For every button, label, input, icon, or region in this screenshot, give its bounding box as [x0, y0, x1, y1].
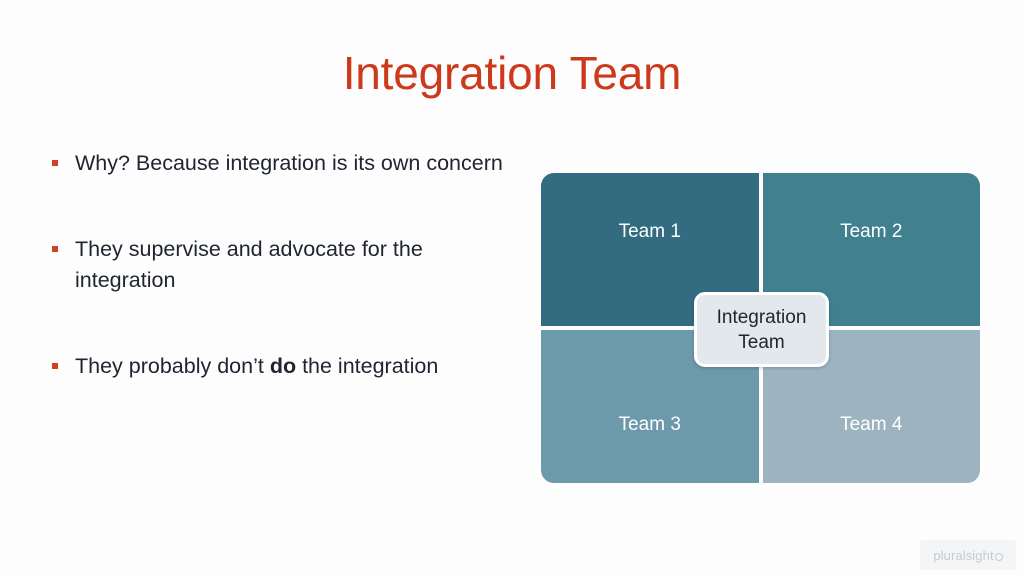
quadrant-label: Team 1 — [619, 221, 681, 243]
square-bullet-icon — [52, 246, 58, 252]
integration-team-callout-text: IntegrationTeam — [717, 305, 807, 355]
page-title: Integration Team — [0, 48, 1024, 99]
bullet-text: They supervise and advocate for the inte… — [75, 234, 522, 296]
integration-team-callout[interactable]: IntegrationTeam — [694, 292, 829, 367]
bullet-text-before: They probably don’t — [75, 354, 270, 378]
bullet-text-emphasis: do — [270, 354, 296, 378]
quadrant-label: Team 3 — [619, 414, 681, 436]
bullet-text: Why? Because integration is its own conc… — [75, 148, 503, 179]
callout-line-1: Integration — [717, 307, 807, 328]
callout-line-2: Team — [738, 332, 784, 353]
bullet-list: Why? Because integration is its own conc… — [52, 148, 522, 382]
watermark-label: pluralsight — [933, 548, 993, 563]
circle-mark-icon — [995, 553, 1003, 561]
quadrant-label: Team 4 — [840, 414, 902, 436]
list-item: They probably don’t do the integration — [52, 351, 522, 382]
square-bullet-icon — [52, 363, 58, 369]
slide-canvas: Integration Team Why? Because integratio… — [0, 0, 1024, 576]
four-team-quadrant-diagram: Team 1 Team 2 Team 3 Team 4 IntegrationT… — [541, 173, 980, 483]
bullet-text-after: the integration — [296, 354, 438, 378]
bullet-text: They probably don’t do the integration — [75, 351, 438, 382]
square-bullet-icon — [52, 160, 58, 166]
list-item: Why? Because integration is its own conc… — [52, 148, 522, 179]
quadrant-label: Team 2 — [840, 221, 902, 243]
pluralsight-watermark: pluralsight — [920, 540, 1016, 570]
list-item: They supervise and advocate for the inte… — [52, 234, 522, 296]
